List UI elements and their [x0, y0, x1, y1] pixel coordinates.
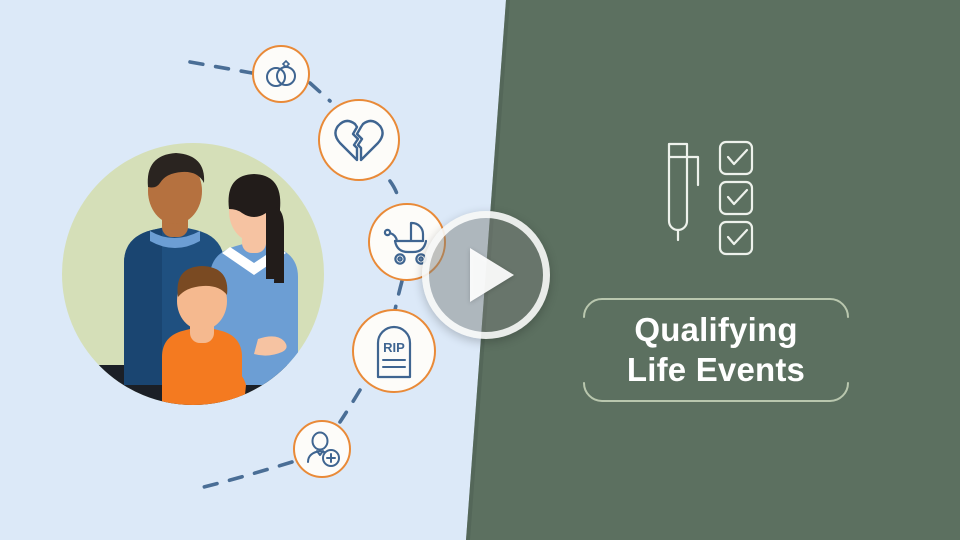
title-text-block: Qualifying Life Events — [583, 291, 849, 409]
play-button[interactable] — [422, 211, 550, 339]
family-illustration — [62, 143, 324, 405]
checked-checkbox-icon — [720, 182, 752, 214]
add-person-icon — [302, 429, 342, 469]
checkbox-group — [720, 142, 752, 254]
wedding-rings-icon — [261, 54, 301, 94]
title-line-2: Life Events — [627, 350, 805, 390]
father-body-shade — [124, 228, 162, 385]
gravestone-inscription: RIP — [383, 340, 405, 355]
video-thumbnail-stage: RIP — [0, 0, 960, 540]
event-node-add-dependent[interactable] — [293, 420, 351, 478]
event-node-divorce[interactable] — [318, 99, 400, 181]
family-illustration-svg — [62, 143, 324, 405]
event-node-marriage[interactable] — [252, 45, 310, 103]
pen-and-checklist-icon — [662, 136, 774, 260]
title-line-1: Qualifying — [634, 310, 797, 350]
gravestone-rip-icon: RIP — [368, 323, 420, 379]
checked-checkbox-icon — [720, 222, 752, 254]
checked-checkbox-icon — [720, 142, 752, 174]
pen-and-checklist-svg — [662, 136, 774, 260]
broken-heart-icon — [331, 114, 387, 166]
event-node-death[interactable]: RIP — [352, 309, 436, 393]
title-card: Qualifying Life Events — [583, 291, 849, 409]
